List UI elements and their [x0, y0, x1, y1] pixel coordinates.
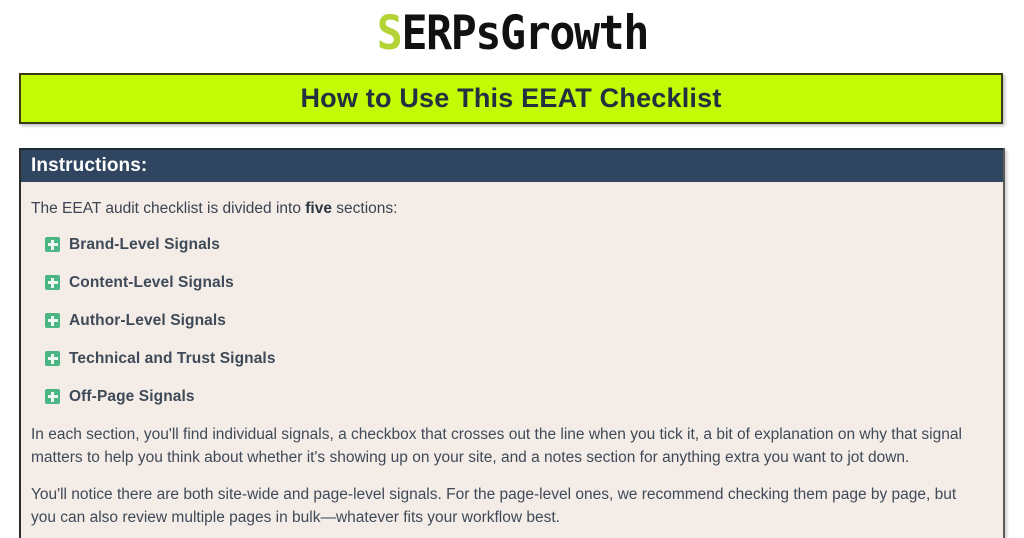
- plus-square-icon: [45, 389, 60, 404]
- section-label: Author-Level Signals: [69, 312, 226, 330]
- list-item[interactable]: Technical and Trust Signals: [45, 340, 989, 378]
- plus-square-icon: [45, 237, 60, 252]
- section-label: Technical and Trust Signals: [69, 350, 276, 368]
- instructions-panel-body: The EEAT audit checklist is divided into…: [21, 182, 1003, 529]
- brand-logo-accent-letter: S: [376, 6, 401, 61]
- page-title: How to Use This EEAT Checklist: [300, 83, 721, 114]
- plus-square-icon: [45, 351, 60, 366]
- brand-logo-text: SERPsGrowth: [376, 6, 647, 62]
- brand-logo: SERPsGrowth: [0, 0, 1024, 64]
- section-label: Content-Level Signals: [69, 274, 234, 292]
- list-item[interactable]: Off-Page Signals: [45, 378, 989, 416]
- section-label: Brand-Level Signals: [69, 236, 220, 254]
- plus-square-icon: [45, 275, 60, 290]
- list-item[interactable]: Content-Level Signals: [45, 264, 989, 302]
- page-root: SERPsGrowth How to Use This EEAT Checkli…: [0, 0, 1024, 538]
- intro-sentence: The EEAT audit checklist is divided into…: [31, 198, 989, 220]
- intro-before: The EEAT audit checklist is divided into: [31, 200, 305, 217]
- instructions-paragraph-1: In each section, you'll find individual …: [31, 424, 989, 470]
- section-label: Off-Page Signals: [69, 388, 195, 406]
- list-item[interactable]: Author-Level Signals: [45, 302, 989, 340]
- page-title-banner: How to Use This EEAT Checklist: [19, 73, 1003, 124]
- instructions-paragraph-2: You'll notice there are both site-wide a…: [31, 484, 989, 530]
- instructions-panel-header: Instructions:: [21, 148, 1003, 182]
- plus-square-icon: [45, 313, 60, 328]
- list-item[interactable]: Brand-Level Signals: [45, 226, 989, 264]
- section-list: Brand-Level Signals Content-Level Signal…: [31, 226, 989, 416]
- instructions-panel: Instructions: The EEAT audit checklist i…: [19, 148, 1005, 538]
- intro-after: sections:: [332, 200, 397, 217]
- intro-emphasis: five: [305, 200, 332, 217]
- instructions-header-label: Instructions:: [31, 155, 147, 177]
- brand-logo-rest: ERPsGrowth: [401, 6, 648, 61]
